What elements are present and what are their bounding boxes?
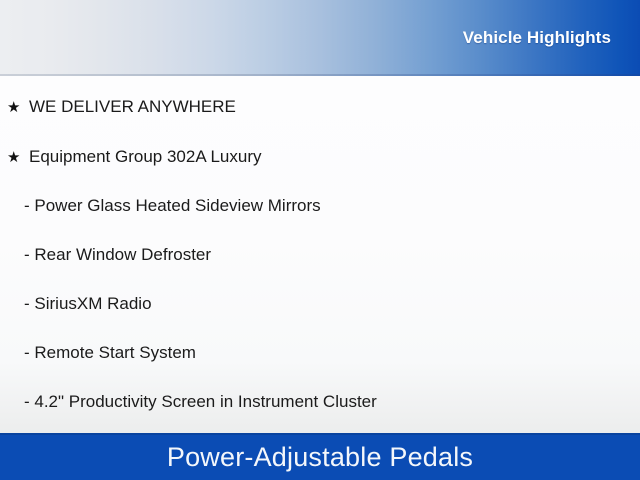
list-item-label: - Power Glass Heated Sideview Mirrors — [24, 196, 321, 216]
highlights-list: ★ WE DELIVER ANYWHERE ★ Equipment Group … — [0, 76, 640, 433]
list-item: ★ Equipment Group 302A Luxury — [0, 147, 640, 196]
list-item-label: - Remote Start System — [24, 343, 196, 363]
list-item: - Remote Start System — [0, 343, 640, 392]
list-item: - Rear Window Defroster — [0, 245, 640, 294]
highlights-content: ★ WE DELIVER ANYWHERE ★ Equipment Group … — [0, 76, 640, 433]
list-item-label: WE DELIVER ANYWHERE — [29, 97, 236, 117]
list-item: - Power Glass Heated Sideview Mirrors — [0, 196, 640, 245]
list-item: ★ WE DELIVER ANYWHERE — [0, 76, 640, 147]
list-item-label: - SiriusXM Radio — [24, 294, 152, 314]
vehicle-highlights-slide: Vehicle Highlights ★ WE DELIVER ANYWHERE… — [0, 0, 640, 480]
list-item-label: Equipment Group 302A Luxury — [29, 147, 261, 167]
list-item-label: - 4.2" Productivity Screen in Instrument… — [24, 392, 377, 412]
list-item: - 4.2" Productivity Screen in Instrument… — [0, 392, 640, 433]
header-banner: Vehicle Highlights — [0, 0, 640, 76]
list-item: - SiriusXM Radio — [0, 294, 640, 343]
star-icon: ★ — [7, 150, 29, 165]
footer-banner: Power-Adjustable Pedals — [0, 433, 640, 480]
footer-headline: Power-Adjustable Pedals — [167, 442, 473, 473]
list-item-label: - Rear Window Defroster — [24, 245, 211, 265]
page-title: Vehicle Highlights — [463, 28, 611, 48]
star-icon: ★ — [7, 100, 29, 115]
